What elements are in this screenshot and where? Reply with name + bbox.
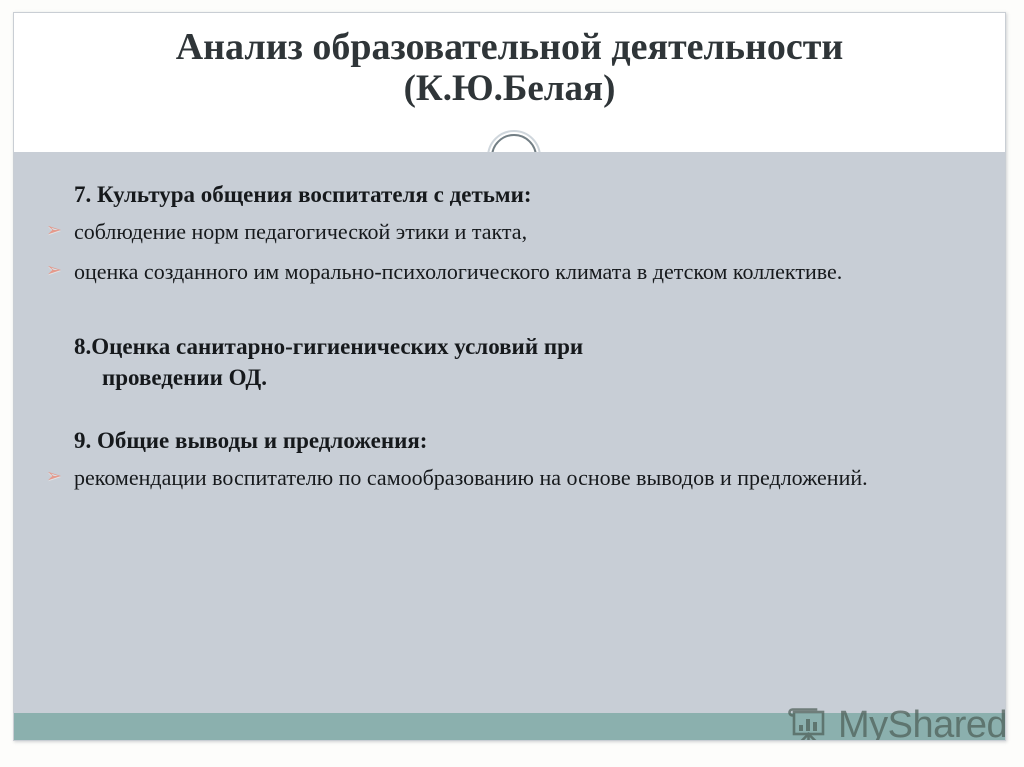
section-7-heading: 7. Культура общения воспитателя с детьми…: [38, 182, 981, 208]
slide-header: Анализ образовательной деятельности (К.Ю…: [14, 13, 1005, 152]
list-item-text: соблюдение норм педагогической этики и т…: [74, 219, 527, 244]
slide: Анализ образовательной деятельности (К.Ю…: [13, 12, 1006, 741]
chevron-bullet-icon: ➢: [46, 222, 66, 240]
title-line-primary: Анализ образовательной деятельности: [14, 27, 1005, 69]
myshared-watermark-text: MyShared: [838, 704, 1006, 742]
list-item-text: рекомендации воспитателю по самообразова…: [74, 465, 868, 490]
presentation-easel-chart-icon: [785, 703, 831, 741]
list-item-text: оценка созданного им морально-психологич…: [74, 259, 842, 284]
spacer: [38, 297, 981, 331]
section-9: 9. Общие выводы и предложения: ➢ рекомен…: [38, 428, 981, 494]
page-title: Анализ образовательной деятельности (К.Ю…: [14, 27, 1005, 109]
chevron-bullet-icon: ➢: [46, 262, 66, 280]
chevron-bullet-icon: ➢: [46, 468, 66, 486]
list-item: ➢ соблюдение норм педагогической этики и…: [38, 217, 981, 248]
slide-content: 7. Культура общения воспитателя с детьми…: [14, 152, 1005, 713]
spacer: [38, 398, 981, 428]
section-7-bullet-list: ➢ соблюдение норм педагогической этики и…: [38, 217, 981, 288]
list-item: ➢ рекомендации воспитателю по самообразо…: [38, 463, 981, 494]
section-8-heading: 8.Оценка санитарно-гигиенических условий…: [38, 331, 981, 394]
section-7: 7. Культура общения воспитателя с детьми…: [38, 182, 981, 288]
section-8-heading-line1: 8.Оценка санитарно-гигиенических условий…: [74, 334, 583, 359]
list-item: ➢ оценка созданного им морально-психолог…: [38, 257, 981, 288]
section-8: 8.Оценка санитарно-гигиенических условий…: [38, 331, 981, 394]
slide-body: 7. Культура общения воспитателя с детьми…: [14, 152, 1005, 713]
section-9-heading: 9. Общие выводы и предложения:: [38, 428, 981, 454]
section-9-bullet-list: ➢ рекомендации воспитателю по самообразо…: [38, 463, 981, 494]
myshared-watermark: MyShared: [785, 699, 1000, 741]
section-8-heading-line2: проведении ОД.: [74, 362, 831, 394]
title-line-secondary: (К.Ю.Белая): [14, 69, 1005, 110]
